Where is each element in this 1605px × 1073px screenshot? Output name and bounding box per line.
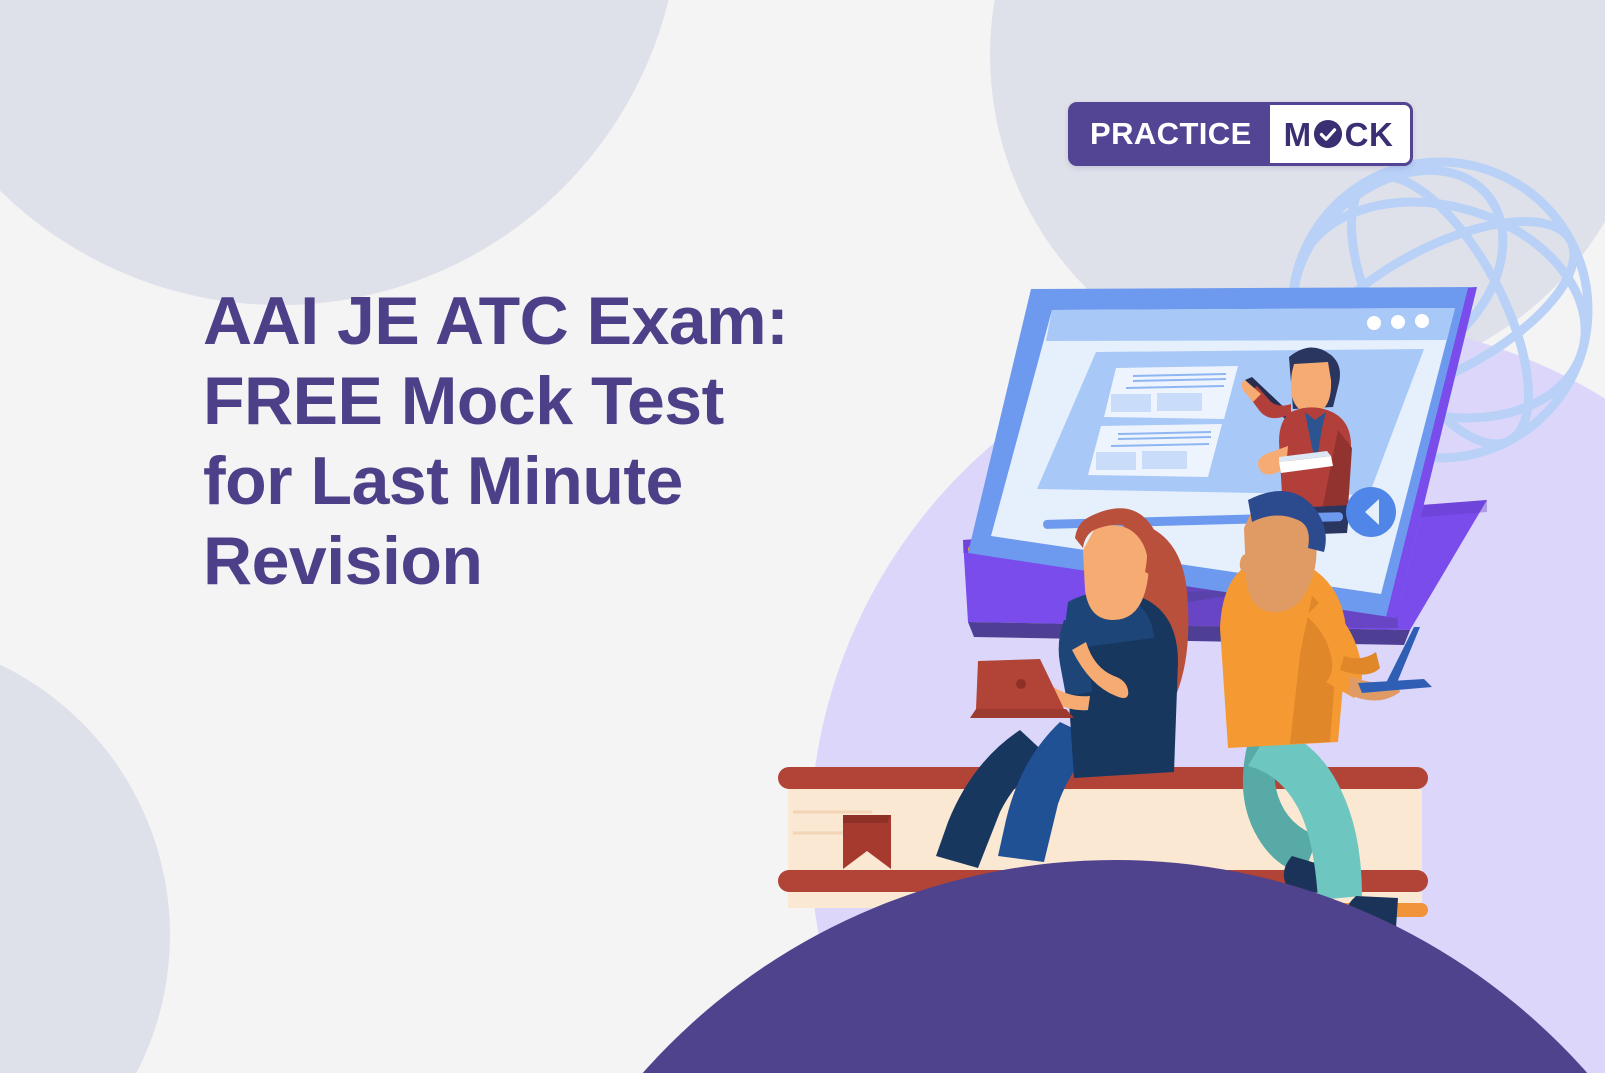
headline-line-4: Revision — [203, 521, 843, 601]
slide-card-2-image-a — [1096, 452, 1136, 470]
headline-line-2: FREE Mock Test — [203, 361, 843, 441]
page-title: AAI JE ATC Exam: FREE Mock Test for Last… — [203, 281, 843, 602]
slide-card-1-image-a — [1111, 394, 1151, 412]
window-dot-1 — [1367, 316, 1381, 330]
promo-banner: PRACTICE M C K AAI JE ATC Exam: FREE Moc… — [0, 0, 1605, 1073]
woman-laptop-logo-icon — [1016, 679, 1026, 689]
logo-mock-letter-k: K — [1369, 118, 1392, 151]
logo-mock-letter-c: C — [1345, 118, 1368, 151]
logo-mock-letter-m: M — [1284, 118, 1311, 151]
foreground-hill — [485, 860, 1605, 1073]
headline-line-3: for Last Minute — [203, 441, 843, 521]
book-bookmark-shade — [843, 815, 891, 823]
practicemock-logo[interactable]: PRACTICE M C K — [1068, 102, 1413, 166]
tilted-monitor — [963, 287, 1487, 645]
headline-line-1: AAI JE ATC Exam: — [203, 281, 843, 361]
check-circle-icon — [1313, 119, 1343, 149]
woman-neck — [1102, 578, 1126, 604]
woman-head — [1083, 525, 1149, 620]
slide-card-2-image-b — [1142, 451, 1187, 469]
play-button-icon[interactable] — [1346, 487, 1396, 537]
logo-practice-text: PRACTICE — [1068, 102, 1270, 166]
man-neck — [1258, 580, 1288, 606]
logo-mock-block: M C K — [1270, 102, 1414, 166]
window-dot-3 — [1415, 314, 1429, 328]
window-dot-2 — [1391, 315, 1405, 329]
slide-card-1-image-b — [1157, 393, 1202, 411]
woman-laptop-base — [970, 709, 1074, 718]
